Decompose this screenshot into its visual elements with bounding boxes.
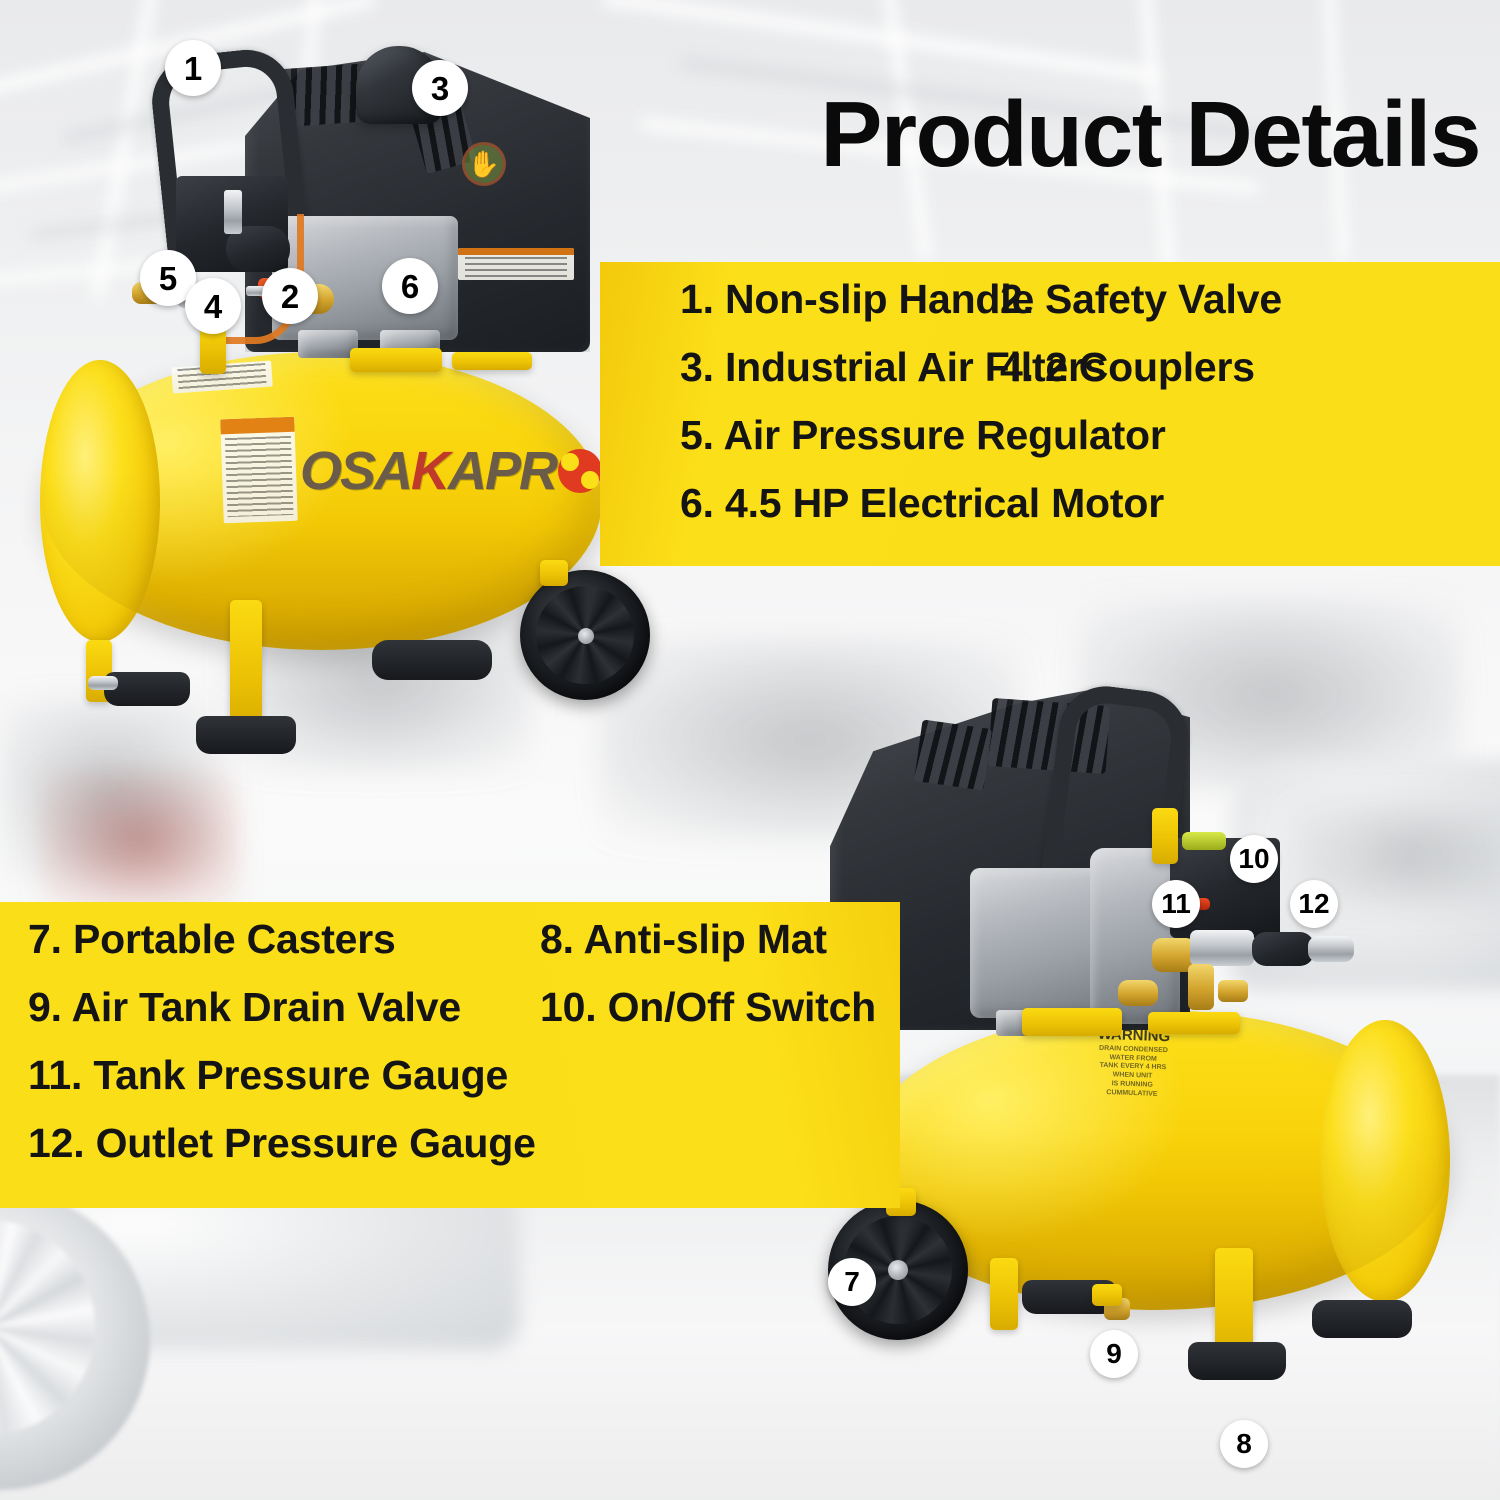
tank-saddle-bracket [1148, 1012, 1240, 1034]
gauge-manifold [1190, 930, 1254, 966]
product-details-infographic: Product Details OSAKAPR [0, 0, 1500, 1500]
tank-saddle-bracket [1022, 1008, 1122, 1036]
tank-saddle-bracket [350, 348, 442, 372]
motor-spec-label [458, 248, 574, 280]
brand-logo-swirl-icon [558, 449, 602, 493]
brand-logo: OSAKAPR [300, 440, 602, 502]
product-image-front-view: OSAKAPR ✋ [0, 0, 640, 780]
features-list-top: 1. Non-slip Handle 2. Safety Valve 3. In… [600, 262, 1500, 566]
brand-logo-text-1: OSA [300, 440, 411, 502]
feature-row: 5. Air Pressure Regulator [600, 412, 1500, 480]
tank-foot-bracket [230, 600, 262, 732]
sticker-text-lines [465, 257, 567, 278]
feature-item-5: 5. Air Pressure Regulator [680, 412, 1000, 459]
drain-valve-mount [1092, 1284, 1122, 1306]
feature-item-2: 2. Safety Valve [1000, 276, 1282, 323]
callout-badge-6[interactable]: 6 [382, 258, 438, 314]
feature-item-7: 7. Portable Casters [28, 916, 540, 963]
on-off-switch-lever[interactable] [1182, 832, 1226, 850]
features-list-bottom: 7. Portable Casters 8. Anti-slip Mat 9. … [0, 902, 900, 1208]
feature-row: 7. Portable Casters 8. Anti-slip Mat [0, 916, 900, 984]
anti-slip-foot-pad [372, 640, 492, 680]
callout-badge-2[interactable]: 2 [262, 268, 318, 324]
sticker-header-bar [220, 417, 294, 434]
feature-item-3: 3. Industrial Air Filters [680, 344, 1000, 391]
callout-badge-4[interactable]: 4 [185, 278, 241, 334]
feature-row: 11. Tank Pressure Gauge [0, 1052, 900, 1120]
feature-item-6: 6. 4.5 HP Electrical Motor [680, 480, 1000, 527]
wheel-mount-bracket [540, 560, 568, 586]
feature-item-11: 11. Tank Pressure Gauge [28, 1052, 540, 1099]
tank-warning-text: WARNING DRAIN CONDENSED WATER FROM TANK … [1087, 1026, 1179, 1099]
feature-row: 9. Air Tank Drain Valve 10. On/Off Switc… [0, 984, 900, 1052]
feature-row: 1. Non-slip Handle 2. Safety Valve [600, 276, 1500, 344]
callout-badge-9[interactable]: 9 [1090, 1330, 1138, 1378]
sticker-text-lines [225, 436, 293, 517]
regulator-mount [1152, 808, 1178, 864]
callout-badge-7[interactable]: 7 [828, 1258, 876, 1306]
no-hand-warning-icon: ✋ [462, 142, 506, 186]
brand-logo-text-2: APR [448, 440, 556, 502]
anti-slip-foot-pad [1312, 1300, 1412, 1338]
brass-elbow-fitting [1188, 964, 1214, 1010]
feature-item-10: 10. On/Off Switch [540, 984, 876, 1031]
tank-foot-bracket [990, 1258, 1018, 1330]
drain-valve [88, 676, 118, 690]
anti-slip-foot-pad [104, 672, 190, 706]
feature-row: 3. Industrial Air Filters 4. 2 Couplers [600, 344, 1500, 412]
features-panel-bottom: 7. Portable Casters 8. Anti-slip Mat 9. … [0, 902, 900, 1208]
check-valve [1118, 980, 1158, 1006]
callout-badge-8[interactable]: 8 [1220, 1420, 1268, 1468]
feature-item-9: 9. Air Tank Drain Valve [28, 984, 540, 1031]
product-image-side-view: WARNING DRAIN CONDENSED WATER FROM TANK … [800, 680, 1500, 1500]
callout-badge-10[interactable]: 10 [1230, 835, 1278, 883]
wheel-hub [888, 1260, 908, 1280]
outlet-pressure-gauge [1252, 932, 1314, 966]
feature-row: 12. Outlet Pressure Gauge [0, 1120, 900, 1188]
warning-body: DRAIN CONDENSED WATER FROM TANK EVERY 4 … [1087, 1044, 1179, 1100]
callout-badge-12[interactable]: 12 [1290, 880, 1338, 928]
quick-coupler [1308, 936, 1354, 962]
anti-slip-foot-pad [1188, 1342, 1286, 1380]
callout-badge-3[interactable]: 3 [412, 60, 468, 116]
feature-item-4: 4. 2 Couplers [1000, 344, 1255, 391]
callout-badge-1[interactable]: 1 [165, 40, 221, 96]
feature-item-12: 12. Outlet Pressure Gauge [28, 1120, 540, 1167]
tank-saddle-bracket [452, 352, 532, 370]
feature-item-1: 1. Non-slip Handle [680, 276, 1000, 323]
callout-badge-11[interactable]: 11 [1152, 880, 1200, 928]
features-panel-top: 1. Non-slip Handle 2. Safety Valve 3. In… [600, 262, 1500, 566]
brass-elbow-fitting [1218, 980, 1248, 1002]
tank-warning-sticker [220, 417, 298, 524]
brand-logo-accent: K [411, 440, 448, 502]
feature-row: 6. 4.5 HP Electrical Motor [600, 480, 1500, 548]
motor-cooling-vents [914, 719, 992, 790]
anti-slip-foot-pad [196, 716, 296, 754]
feature-item-8: 8. Anti-slip Mat [540, 916, 827, 963]
wheel-hub [578, 628, 594, 644]
motor-mount-foot [298, 330, 358, 358]
sticker-header-bar [458, 248, 574, 255]
page-title: Product Details [650, 88, 1480, 181]
